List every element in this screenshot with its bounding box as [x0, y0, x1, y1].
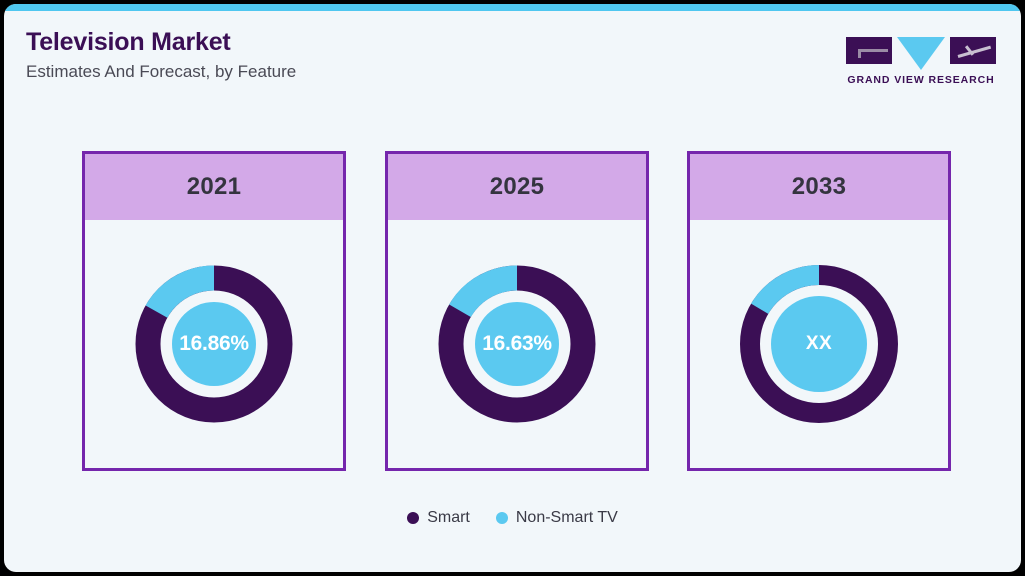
- legend-label: Non-Smart TV: [516, 509, 618, 527]
- donut-svg: [438, 265, 596, 423]
- header: Television Market Estimates And Forecast…: [4, 11, 1021, 116]
- logo-right-rect-icon: [950, 37, 996, 64]
- year-card-2021: 2021 16.86%: [82, 151, 346, 471]
- chart-legend: Smart Non-Smart TV: [4, 509, 1021, 527]
- card-year-label: 2025: [490, 173, 545, 201]
- year-cards-row: 2021 16.86% 2025: [4, 151, 1021, 471]
- infographic-card: Television Market Estimates And Forecast…: [4, 4, 1021, 572]
- donut-inner-circle: [475, 302, 559, 386]
- logo-triangle-icon: [897, 37, 945, 70]
- year-card-2025: 2025 16.63%: [385, 151, 649, 471]
- year-card-2033: 2033 XX: [687, 151, 951, 471]
- card-header-2033: 2033: [690, 154, 948, 220]
- card-body-2025: 16.63%: [388, 220, 646, 468]
- donut-svg: [740, 265, 898, 423]
- legend-item-smart[interactable]: Smart: [407, 509, 470, 527]
- top-accent-bar: [4, 4, 1021, 11]
- page-title: Television Market: [26, 29, 296, 57]
- legend-label: Smart: [427, 509, 470, 527]
- logo-left-rect-icon: [846, 37, 892, 64]
- donut-chart-2033: XX: [740, 265, 898, 423]
- card-year-label: 2033: [792, 173, 847, 201]
- page-subtitle: Estimates And Forecast, by Feature: [26, 63, 296, 82]
- card-year-label: 2021: [187, 173, 242, 201]
- card-body-2021: 16.86%: [85, 220, 343, 468]
- legend-item-non-smart-tv[interactable]: Non-Smart TV: [496, 509, 618, 527]
- donut-inner-circle: [172, 302, 256, 386]
- dot-icon: [407, 512, 419, 524]
- card-header-2025: 2025: [388, 154, 646, 220]
- donut-chart-2021: 16.86%: [135, 265, 293, 423]
- logo-wordmark: GRAND VIEW RESEARCH: [845, 74, 997, 86]
- logo-marks: [845, 37, 997, 67]
- title-block: Television Market Estimates And Forecast…: [26, 29, 296, 81]
- dot-icon: [496, 512, 508, 524]
- donut-chart-2025: 16.63%: [438, 265, 596, 423]
- card-header-2021: 2021: [85, 154, 343, 220]
- donut-svg: [135, 265, 293, 423]
- donut-inner-circle: [771, 296, 867, 392]
- grand-view-research-logo: GRAND VIEW RESEARCH: [845, 37, 997, 86]
- card-body-2033: XX: [690, 220, 948, 468]
